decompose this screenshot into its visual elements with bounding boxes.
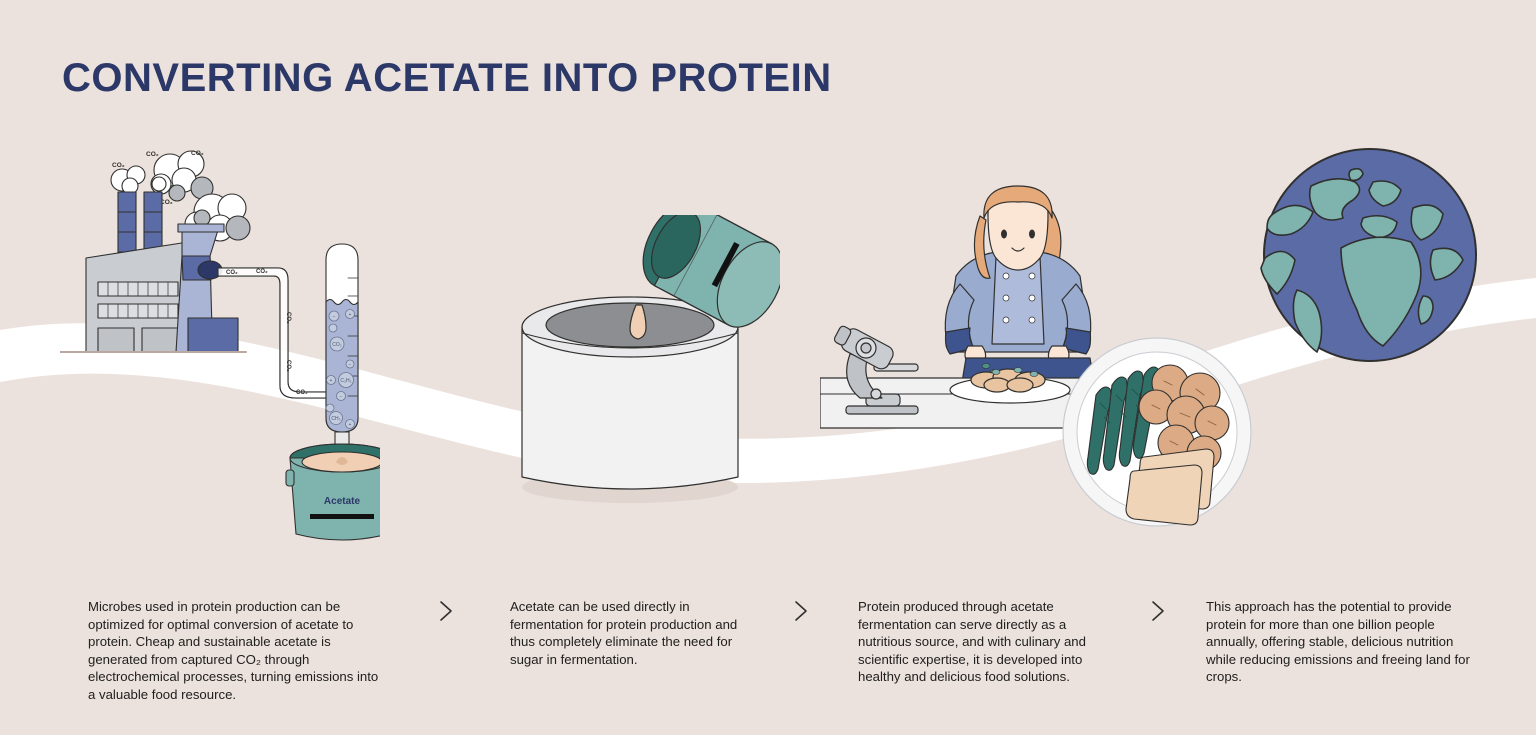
svg-text:+: + [330,378,333,384]
factory-illustration: CO₂ CO₂ CO₂ CO₂ [60,140,380,560]
step-3-caption: Protein produced through acetate ferment… [858,598,1120,686]
svg-text:−: − [333,314,336,320]
acetate-bucket-label: Acetate [324,496,361,507]
svg-text:CO₂: CO₂ [146,151,159,158]
page-title: CONVERTING ACETATE INTO PROTEIN [62,56,832,101]
svg-text:CO₂: CO₂ [112,162,125,169]
step-2-caption: Acetate can be used directly in fermenta… [510,598,746,668]
food-plate-illustration [1060,335,1255,530]
svg-text:CO₂: CO₂ [191,150,204,157]
chevron-right-icon-2 [789,596,813,626]
svg-text:+: + [349,312,352,318]
svg-text:−: − [349,362,352,368]
chevron-right-icon-3 [1146,596,1170,626]
svg-text:CO₂: CO₂ [285,360,291,372]
svg-text:CH₃: CH₃ [331,416,340,422]
svg-text:CO₂: CO₂ [332,342,342,348]
svg-text:CO₂: CO₂ [256,269,268,275]
svg-text:+: + [349,422,352,428]
svg-text:C₂H₃: C₂H₃ [340,378,351,384]
svg-text:CO₂: CO₂ [226,270,238,276]
svg-text:CO₂: CO₂ [296,390,308,396]
step-1-caption: Microbes used in protein production can … [88,598,388,704]
chevron-right-icon-1 [434,596,458,626]
svg-text:−: − [340,394,343,400]
svg-text:CO₂: CO₂ [285,312,291,324]
globe-illustration [1255,140,1485,370]
step-4-caption: This approach has the potential to provi… [1206,598,1472,686]
infographic-canvas: CONVERTING ACETATE INTO PROTEIN [0,0,1536,735]
fermentation-tank-illustration [480,215,780,515]
